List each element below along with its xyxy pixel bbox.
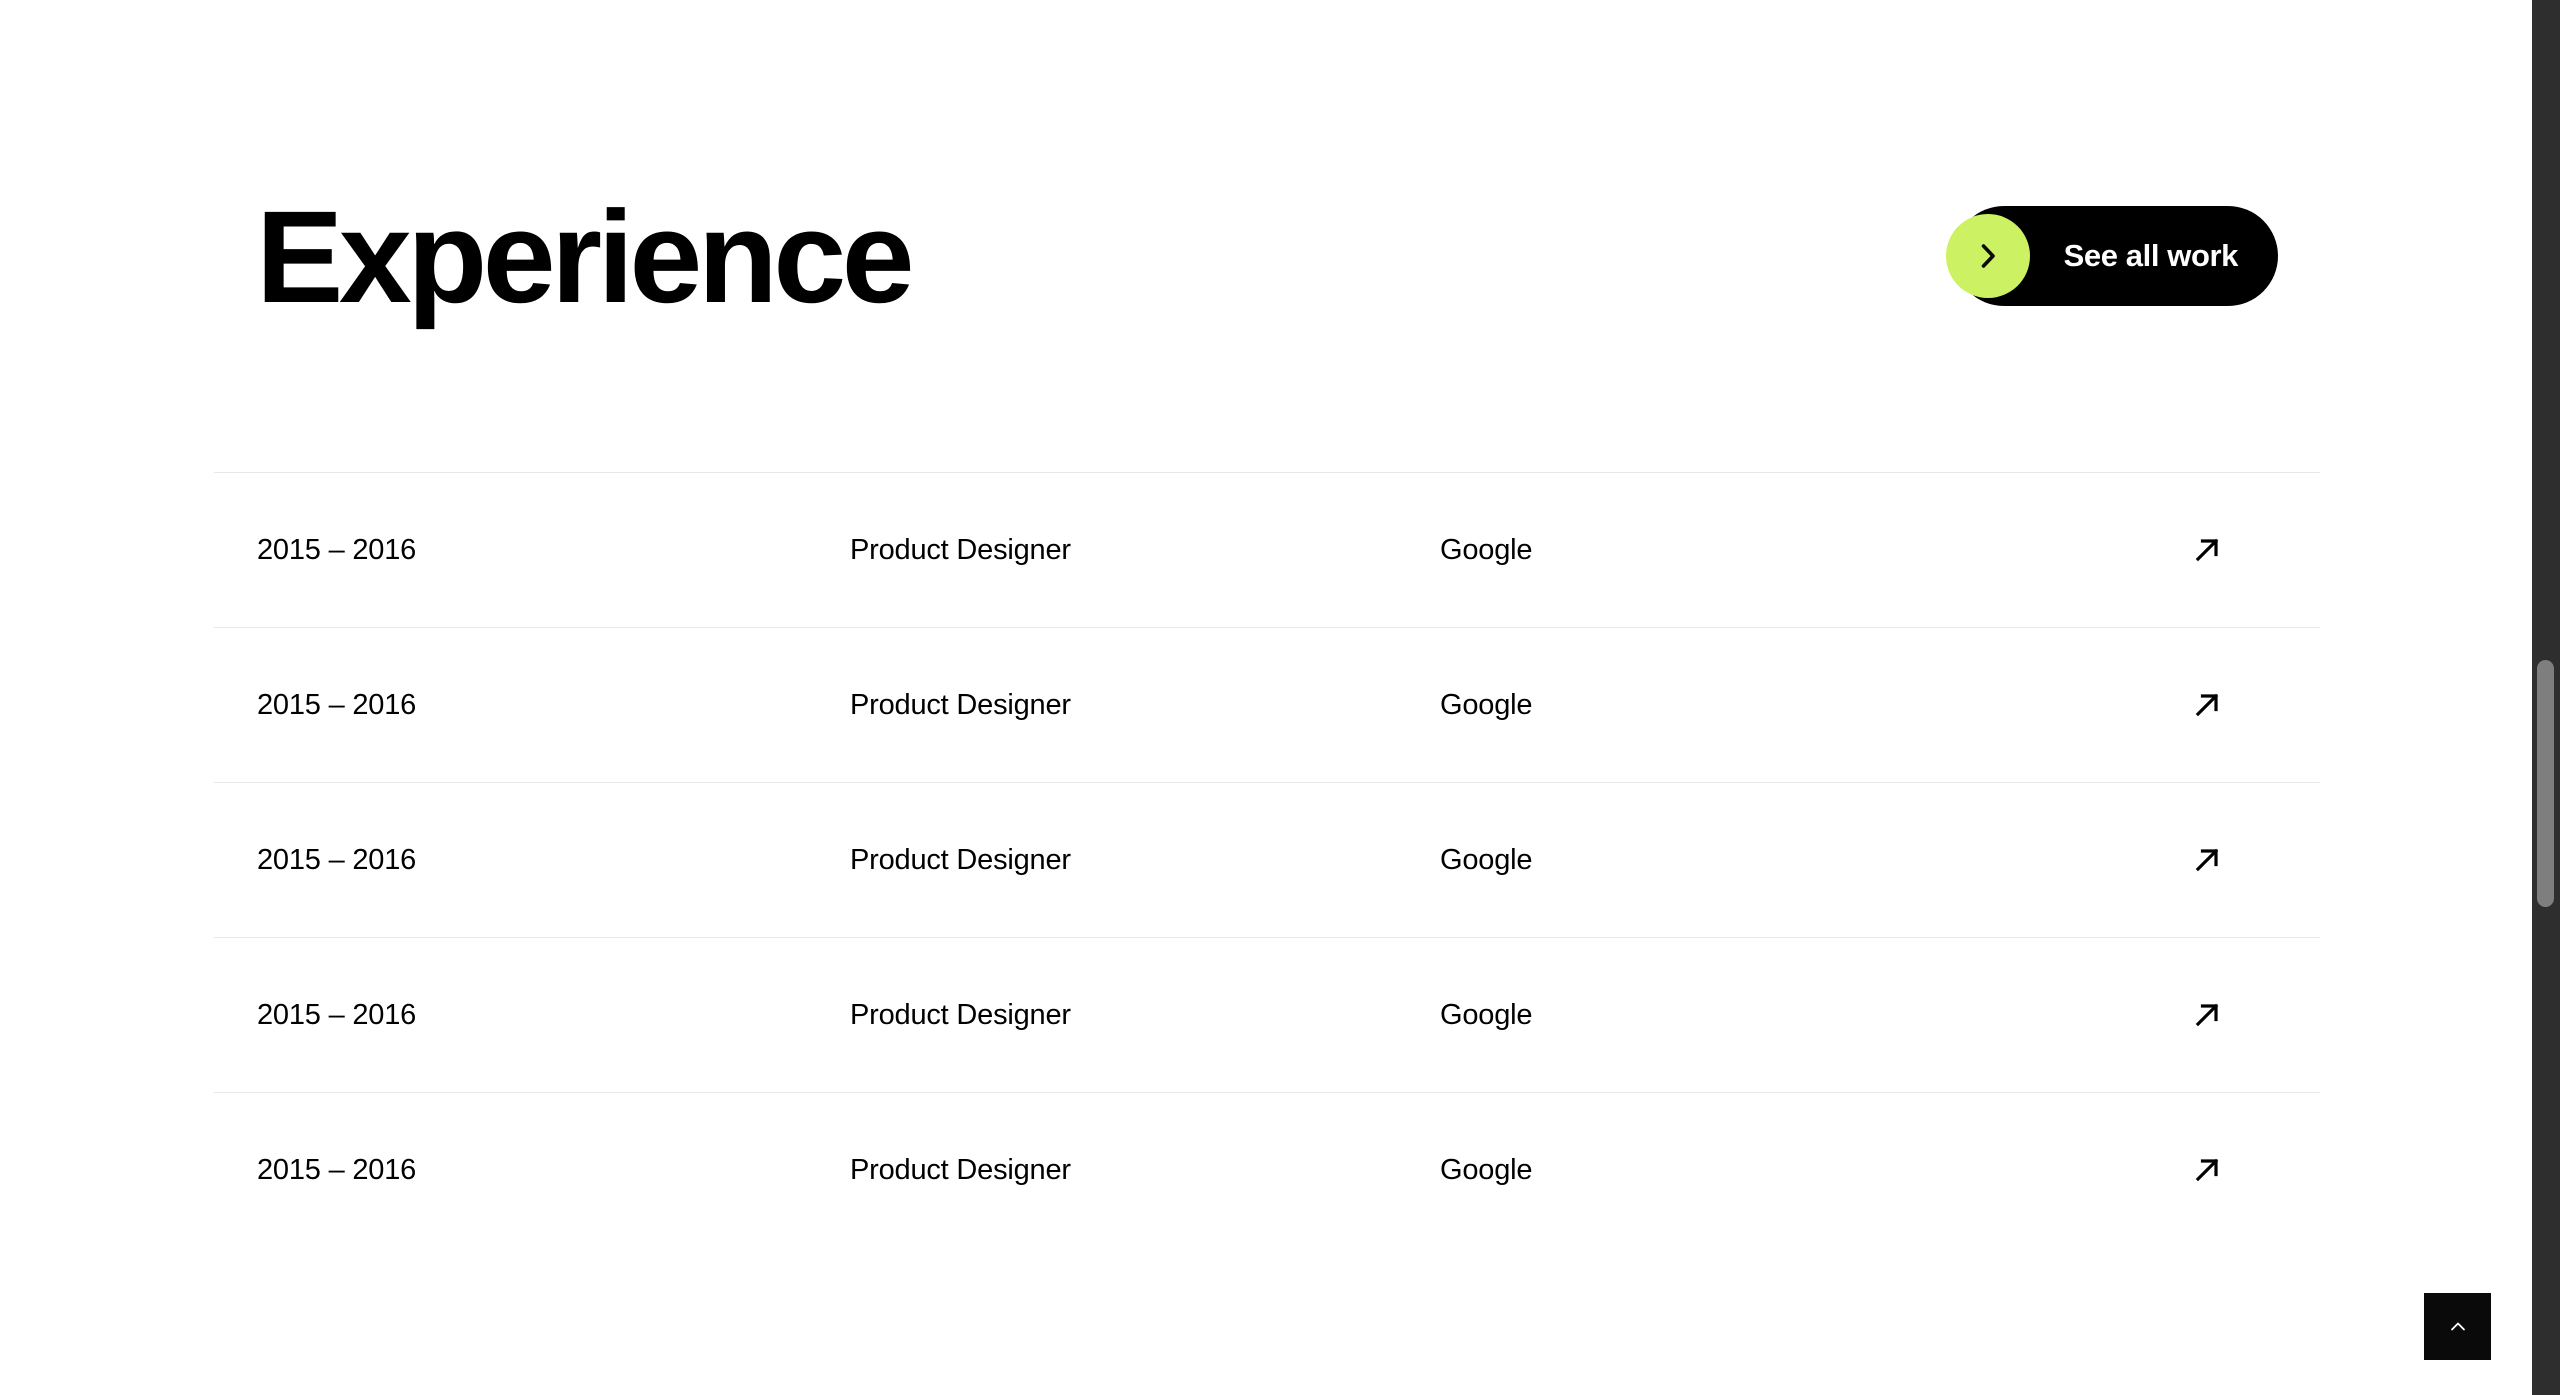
row-company-cell: Google (1440, 1154, 2190, 1187)
company-text: Google (1440, 1154, 1532, 1186)
see-all-work-button[interactable]: See all work (1954, 206, 2278, 306)
table-row[interactable]: 2015 – 2016 Product Designer Google (214, 627, 2320, 782)
row-period-cell: 2015 – 2016 (214, 534, 850, 567)
company-text: Google (1440, 534, 1532, 566)
table-row[interactable]: 2015 – 2016 Product Designer Google (214, 937, 2320, 1092)
table-row[interactable]: 2015 – 2016 Product Designer Google (214, 1092, 2320, 1247)
role-text: Product Designer (850, 844, 1071, 876)
row-period-cell: 2015 – 2016 (214, 999, 850, 1032)
company-text: Google (1440, 844, 1532, 876)
row-period-cell: 2015 – 2016 (214, 689, 850, 722)
experience-table: 2015 – 2016 Product Designer Google 20 (214, 472, 2320, 1247)
row-role-cell: Product Designer (850, 999, 1440, 1032)
arrow-up-right-icon[interactable] (2190, 1153, 2224, 1187)
experience-page: Experience See all work 2015 – 2016 Prod… (0, 0, 2560, 1395)
section-header: Experience See all work (214, 186, 2320, 326)
period-text: 2015 – 2016 (257, 534, 416, 566)
scrollbar-thumb[interactable] (2537, 660, 2554, 907)
row-role-cell: Product Designer (850, 534, 1440, 567)
page-title: Experience (256, 191, 910, 322)
period-text: 2015 – 2016 (257, 1154, 416, 1186)
chevron-right-icon (1946, 214, 2030, 298)
row-link-cell[interactable] (2190, 533, 2320, 567)
row-period-cell: 2015 – 2016 (214, 1154, 850, 1187)
row-link-cell[interactable] (2190, 1153, 2320, 1187)
row-period-cell: 2015 – 2016 (214, 844, 850, 877)
role-text: Product Designer (850, 1154, 1071, 1186)
table-row[interactable]: 2015 – 2016 Product Designer Google (214, 782, 2320, 937)
table-row[interactable]: 2015 – 2016 Product Designer Google (214, 472, 2320, 627)
company-text: Google (1440, 689, 1532, 721)
row-role-cell: Product Designer (850, 844, 1440, 877)
row-link-cell[interactable] (2190, 998, 2320, 1032)
row-link-cell[interactable] (2190, 843, 2320, 877)
chevron-up-icon (2448, 1317, 2468, 1337)
company-text: Google (1440, 999, 1532, 1031)
back-to-top-button[interactable] (2424, 1293, 2491, 1360)
arrow-up-right-icon[interactable] (2190, 533, 2224, 567)
scrollbar-track[interactable] (2532, 0, 2560, 1395)
row-company-cell: Google (1440, 534, 2190, 567)
row-company-cell: Google (1440, 844, 2190, 877)
period-text: 2015 – 2016 (257, 844, 416, 876)
arrow-up-right-icon[interactable] (2190, 843, 2224, 877)
role-text: Product Designer (850, 689, 1071, 721)
row-company-cell: Google (1440, 689, 2190, 722)
period-text: 2015 – 2016 (257, 999, 416, 1031)
arrow-up-right-icon[interactable] (2190, 688, 2224, 722)
row-company-cell: Google (1440, 999, 2190, 1032)
see-all-work-label: See all work (2064, 238, 2238, 274)
row-role-cell: Product Designer (850, 1154, 1440, 1187)
role-text: Product Designer (850, 999, 1071, 1031)
role-text: Product Designer (850, 534, 1071, 566)
arrow-up-right-icon[interactable] (2190, 998, 2224, 1032)
row-role-cell: Product Designer (850, 689, 1440, 722)
row-link-cell[interactable] (2190, 688, 2320, 722)
period-text: 2015 – 2016 (257, 689, 416, 721)
